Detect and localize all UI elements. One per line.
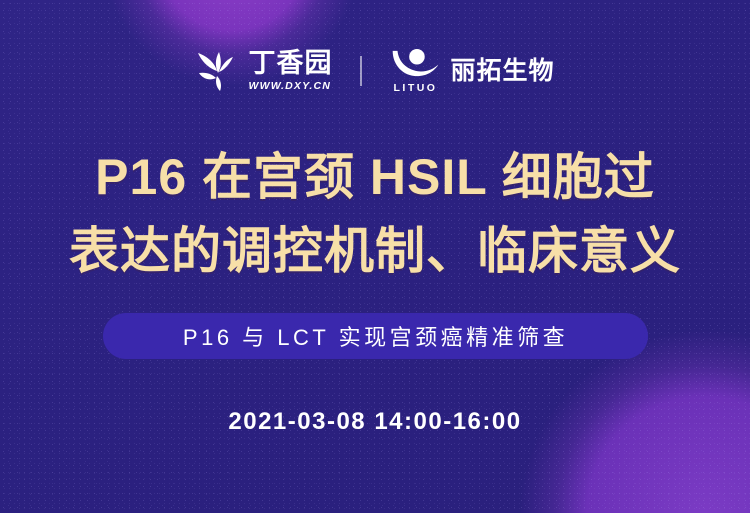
person-arc-icon: LITUO	[390, 48, 440, 94]
dxy-name-cn: 丁香园	[248, 50, 332, 77]
title-line-1: P16 在宫颈 HSIL 细胞过	[0, 140, 750, 214]
title-line-2: 表达的调控机制、临床意义	[0, 214, 750, 288]
lituo-name-cn: 丽拓生物	[450, 59, 554, 84]
event-datetime: 2021-03-08 14:00-16:00	[0, 408, 750, 436]
logo-bar: 丁香园 WWW.DXY.CN LITUO 丽拓生物	[0, 40, 750, 102]
lituo-wordmark: LITUO	[393, 82, 437, 94]
butterfly-leaf-icon	[195, 49, 239, 93]
logo-divider	[360, 56, 362, 86]
dxy-url: WWW.DXY.CN	[248, 80, 331, 92]
poster-title: P16 在宫颈 HSIL 细胞过 表达的调控机制、临床意义	[0, 140, 750, 288]
lituo-logo: LITUO 丽拓生物	[390, 48, 554, 94]
dxy-logo: 丁香园 WWW.DXY.CN	[195, 49, 332, 93]
webinar-poster: 丁香园 WWW.DXY.CN LITUO 丽拓生物 P16 在宫颈 HSIL 细…	[0, 0, 750, 513]
subtitle-text: P16 与 LCT 实现宫颈癌精准筛查	[183, 320, 568, 352]
subtitle-pill: P16 与 LCT 实现宫颈癌精准筛查	[103, 313, 648, 359]
dxy-text-block: 丁香园 WWW.DXY.CN	[248, 50, 332, 92]
